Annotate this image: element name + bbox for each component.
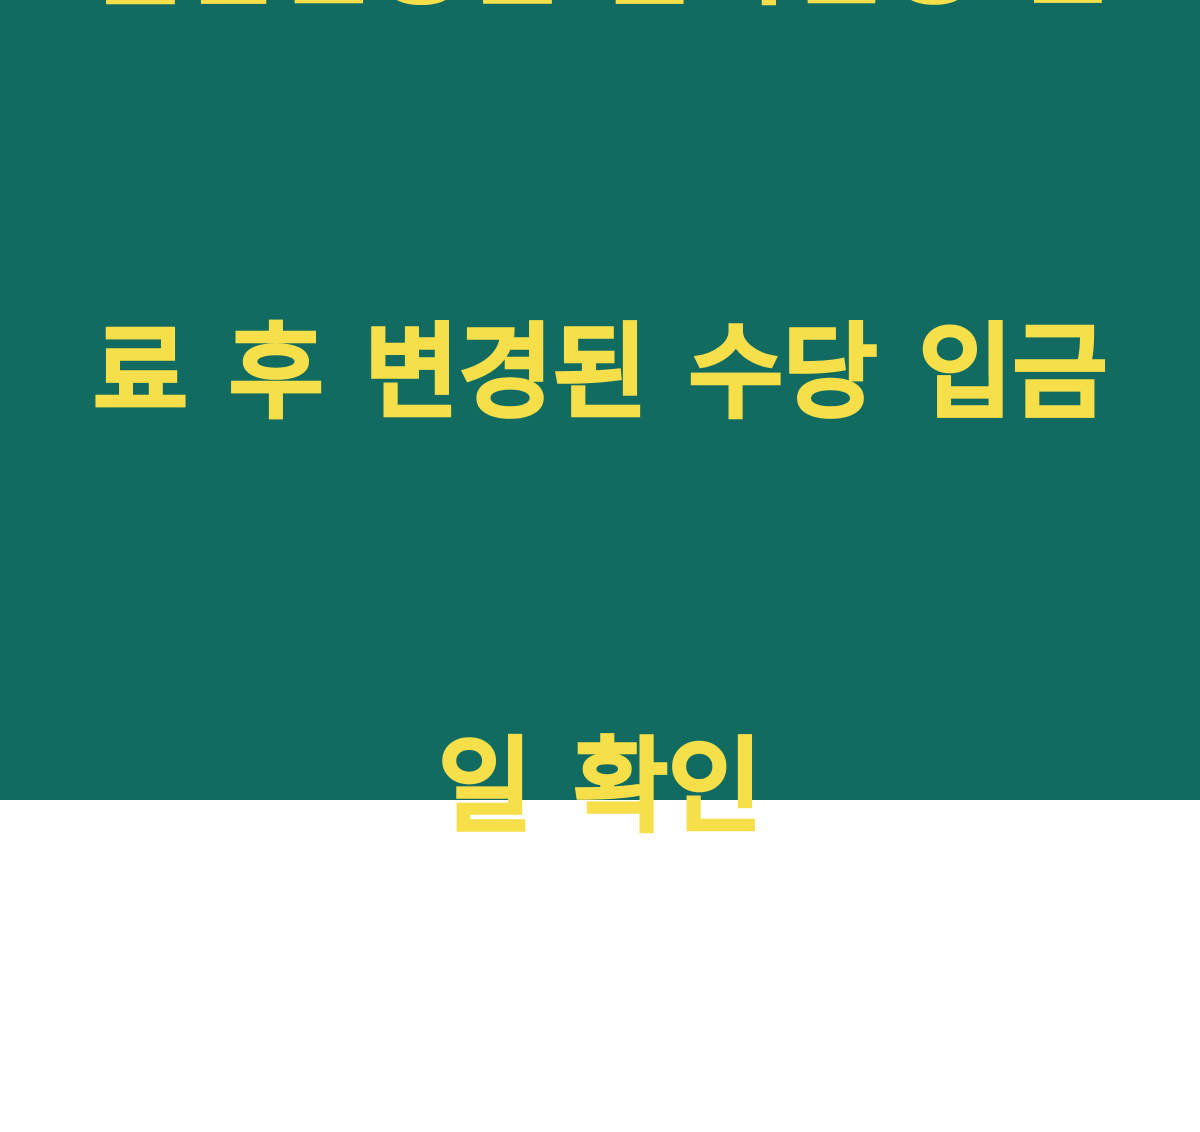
headline-line-3: 일 확인	[70, 718, 1130, 856]
headline-line-2: 료 후 변경된 수당 입금	[70, 304, 1130, 442]
headline-block: 실업인정일 날짜변경 완 료 후 변경된 수당 입금 일 확인	[70, 0, 1130, 1132]
page-title: 실업인정일 날짜변경 완 료 후 변경된 수당 입금 일 확인	[70, 0, 1130, 1132]
thumbnail-canvas: 실업인정일 날짜변경 완 료 후 변경된 수당 입금 일 확인	[0, 0, 1200, 800]
headline-line-1: 실업인정일 날짜변경 완	[70, 0, 1130, 28]
